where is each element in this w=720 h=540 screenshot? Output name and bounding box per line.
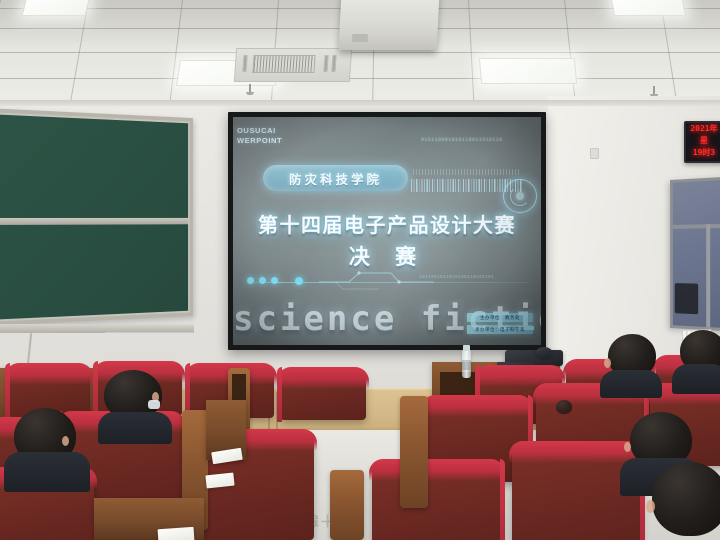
blackboard	[0, 108, 193, 326]
person-body	[600, 370, 662, 398]
paper-handout-3[interactable]	[158, 527, 195, 540]
seat-left-far-4[interactable]	[280, 370, 366, 420]
chalk-tray	[0, 324, 194, 333]
led-clock-line2: 星	[686, 135, 720, 147]
circuit-dot-3	[271, 277, 278, 284]
projection-screen-frame: OUSUCAI WERPOINT 01011000101011001101011…	[228, 112, 546, 350]
sprinkler-head-left	[249, 84, 251, 93]
slide-title-sub: 决 赛	[233, 241, 541, 271]
slide-credit-line2: 承办单位：电子科学系	[467, 325, 533, 334]
air-vent-grille	[252, 55, 315, 73]
institution-badge-label: 防灾科技学院	[289, 169, 382, 188]
person-ear	[624, 442, 631, 452]
equipment-strap	[536, 347, 552, 357]
circuit-trace-icon	[319, 269, 434, 291]
projected-slide: OUSUCAI WERPOINT 01011000101011001101011…	[233, 117, 541, 345]
person-ear	[62, 436, 69, 446]
armrest-right-front	[330, 470, 364, 540]
window-mullion-horizontal	[673, 224, 720, 229]
window-glass	[673, 180, 720, 328]
water-bottle-label	[462, 360, 471, 370]
binary-decoration-mid: 1011001011010100110101101	[419, 275, 529, 280]
slide-title-main: 第十四届电子产品设计大赛	[233, 209, 541, 238]
led-clock-line3: 19时3	[686, 147, 720, 159]
person-body	[672, 364, 720, 394]
blackboard-divider	[0, 218, 188, 225]
circuit-dot-4	[295, 277, 303, 285]
person-body	[4, 452, 90, 492]
window-dark-object	[675, 283, 698, 314]
wall-ceiling-trim	[0, 100, 720, 106]
person-head	[652, 462, 720, 536]
window-mullion-vertical	[706, 224, 710, 327]
slide-watermark-line1: OUSUCAI	[237, 126, 276, 135]
lecture-hall-photo: OUSUCAI WERPOINT 01011000101011001101011…	[0, 0, 720, 540]
binary-decoration-top: 010110001010110011010110	[421, 137, 531, 145]
barcode-decoration-label	[413, 169, 521, 175]
person-ear	[604, 358, 611, 368]
person-body	[98, 412, 172, 444]
blackboard-surface	[0, 112, 190, 322]
window	[670, 177, 720, 332]
ceiling-light-4	[610, 0, 686, 16]
seat-front-2[interactable]	[372, 462, 502, 540]
ceiling-projector	[339, 0, 440, 50]
person-head	[556, 400, 572, 414]
slide-credit-line1: 主办单位：教务处	[467, 313, 533, 322]
ceiling-light-3	[479, 58, 577, 84]
projector-lens-icon	[352, 34, 368, 42]
circuit-dot-1	[247, 277, 254, 284]
institution-badge: 防灾科技学院	[263, 165, 408, 191]
circuit-dot-2	[259, 277, 266, 284]
person-ear	[646, 500, 655, 513]
ceiling-light-1	[22, 0, 91, 16]
tech-circle-icon	[503, 179, 537, 213]
face-mask	[148, 400, 160, 409]
led-clock-line1: 2021年	[686, 123, 720, 135]
armrest-right-mid	[400, 396, 428, 508]
wall-socket	[590, 148, 599, 159]
slide-watermark-line2: WERPOINT	[237, 136, 282, 145]
water-bottle-cap	[463, 345, 470, 351]
led-clock-display: 2021年 星 19时3	[684, 121, 720, 163]
sprinkler-head-right	[653, 86, 655, 95]
